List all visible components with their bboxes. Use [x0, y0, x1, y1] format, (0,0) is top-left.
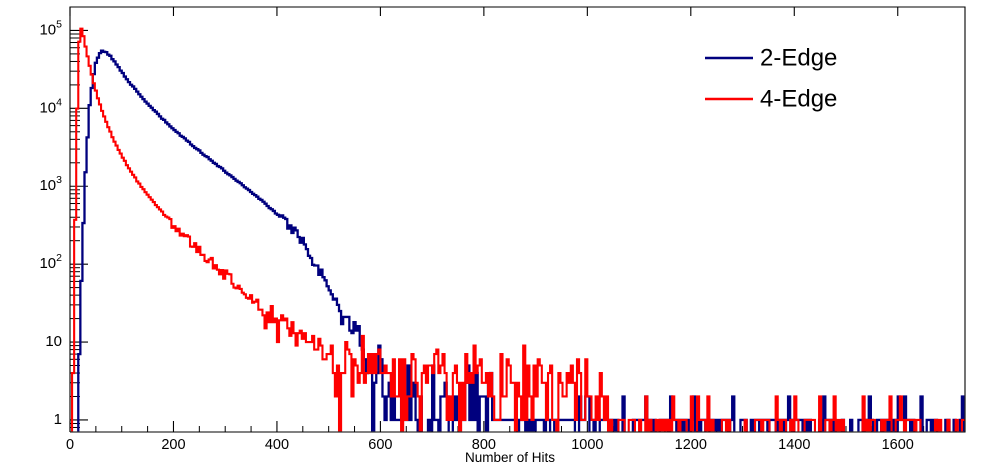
figure-background — [0, 0, 996, 472]
x-tick-label: 200 — [161, 437, 185, 453]
legend-label-2-edge: 2-Edge — [760, 44, 837, 71]
x-tick-label: 400 — [265, 437, 289, 453]
legend-label-4-edge: 4-Edge — [760, 85, 837, 112]
y-tick-label: 10 — [45, 333, 62, 350]
x-axis-title: Number of Hits — [465, 450, 555, 465]
x-tick-label: 600 — [368, 437, 392, 453]
root-figure: 110102103104105 020040060080010001200140… — [0, 0, 996, 472]
x-tick-label: 1400 — [778, 437, 810, 453]
y-tick-label: 1 — [54, 411, 62, 428]
x-tick-label: 0 — [66, 437, 74, 453]
x-tick-label: 1600 — [882, 437, 914, 453]
histogram-canvas: 110102103104105 020040060080010001200140… — [0, 0, 996, 472]
x-tick-label: 1200 — [675, 437, 707, 453]
x-tick-label: 1000 — [571, 437, 603, 453]
